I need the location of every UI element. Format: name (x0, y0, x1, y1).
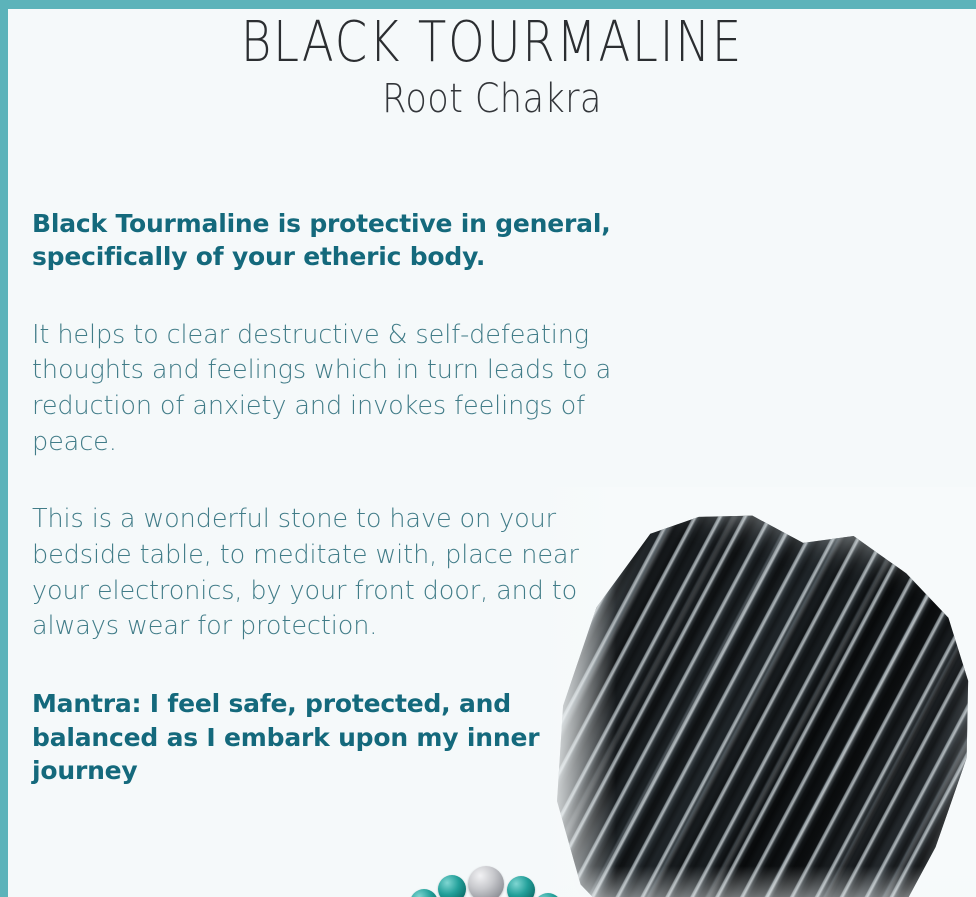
bead-teal-1 (410, 889, 438, 897)
black-tourmaline-info-card: BLACK TOURMALINE Root Chakra Black Tourm… (0, 0, 976, 897)
mantra-paragraph: Mantra: I feel safe, protected, and bala… (32, 687, 572, 788)
bead-bracelet-graphic (408, 855, 584, 897)
body-paragraph-2: It helps to clear destructive & self-def… (32, 318, 657, 461)
bead-teal-2 (438, 875, 466, 897)
lead-paragraph: Black Tourmaline is protective in genera… (32, 207, 632, 274)
card-body: Black Tourmaline is protective in genera… (32, 207, 662, 788)
page-title: BLACK TOURMALINE (90, 15, 893, 71)
bead-teal-3 (507, 876, 535, 897)
body-paragraph-3: This is a wonderful stone to have on you… (32, 502, 617, 645)
bead-teal-4 (534, 893, 562, 897)
bead-silver (468, 866, 504, 897)
card-header: BLACK TOURMALINE Root Chakra (8, 15, 976, 120)
page-subtitle: Root Chakra (66, 78, 918, 120)
